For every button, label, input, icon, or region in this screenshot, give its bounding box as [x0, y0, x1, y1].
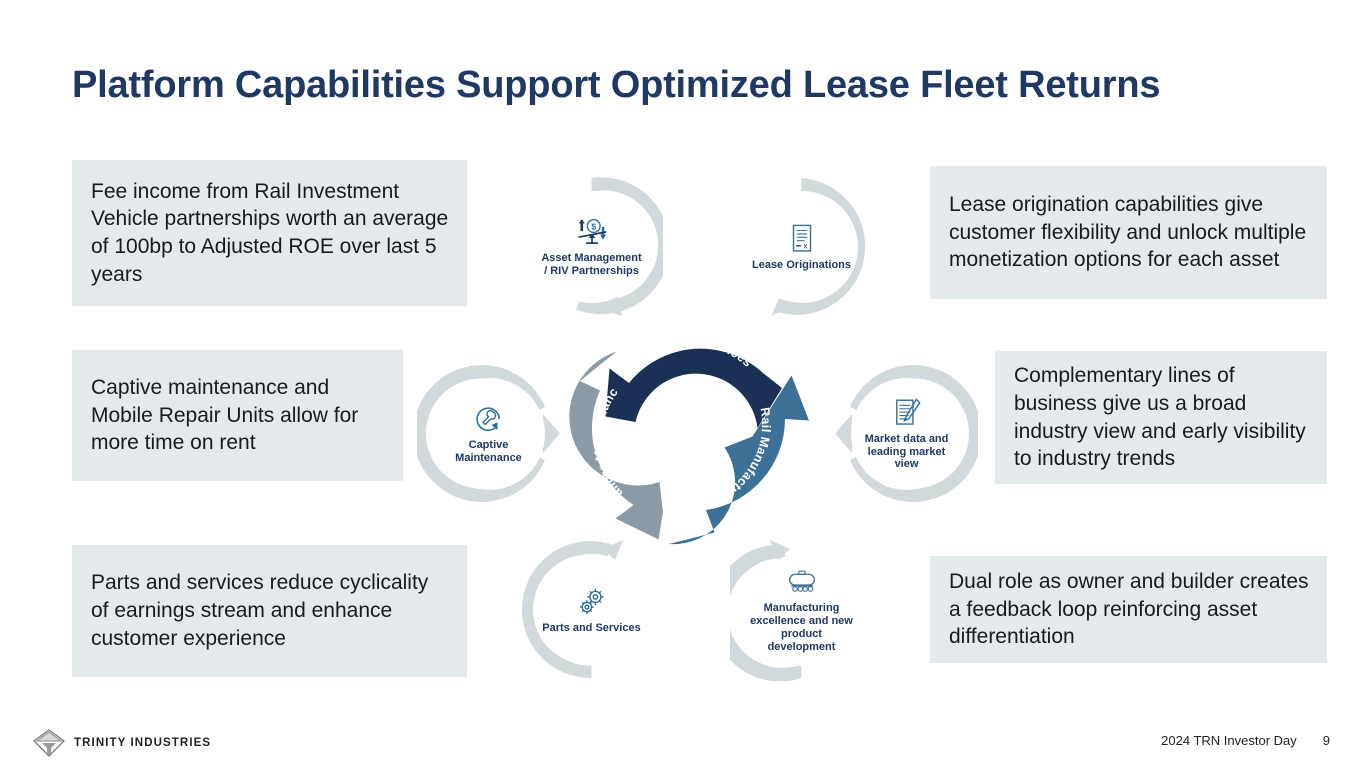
callout-captive-maintenance-text: Captive maintenance and Mobile Repair Un… [91, 374, 385, 457]
node-content: $ Asset Management / RIV Partnerships [536, 191, 648, 303]
callout-fee-income-text: Fee income from Rail Investment Vehicle … [91, 178, 449, 289]
footer-company-name: TRINITY INDUSTRIES [74, 737, 211, 749]
diagram-node-lease-originations[interactable]: x Lease Originations [730, 175, 873, 318]
diagram-node-captive-maintenance[interactable]: Captive Maintenance [417, 362, 560, 505]
node-content: x Lease Originations [746, 191, 858, 303]
node-label: Market data and leading market view [851, 433, 963, 472]
node-label: Asset Management / RIV Partnerships [536, 252, 648, 278]
footer-logo: TRINITY INDUSTRIES [33, 729, 211, 757]
cycle-donut: Leasing & Services Rail Manufacturing Ra… [563, 295, 823, 555]
svg-text:$: $ [591, 221, 596, 231]
page-title: Platform Capabilities Support Optimized … [72, 64, 1342, 108]
callout-parts-services-text: Parts and services reduce cyclicality of… [91, 569, 449, 652]
diagram-node-market-data[interactable]: Market data and leading market view [835, 362, 978, 505]
node-label: Lease Originations [748, 259, 855, 272]
callout-complementary-lines-text: Complementary lines of business give us … [1014, 362, 1309, 473]
callout-dual-role-text: Dual role as owner and builder creates a… [949, 568, 1309, 651]
trinity-diamond-icon [33, 729, 65, 757]
wrench-refresh-icon [472, 402, 506, 436]
gears-icon [575, 585, 609, 619]
callout-lease-origination-text: Lease origination capabilities give cust… [949, 191, 1309, 274]
capability-cycle-diagram: Leasing & Services Rail Manufacturing Ra… [415, 170, 995, 680]
balance-dollar-icon: $ [575, 215, 609, 249]
callout-captive-maintenance: Captive maintenance and Mobile Repair Un… [72, 350, 403, 481]
node-content: Parts and Services [536, 554, 648, 666]
signed-document-icon: x [785, 222, 819, 256]
footer-event-label: 2024 TRN Investor Day [1161, 733, 1297, 748]
node-content: Manufacturing excellence and new product… [746, 554, 858, 666]
node-label: Captive Maintenance [433, 439, 545, 465]
svg-text:x: x [803, 240, 808, 250]
diagram-node-asset-management[interactable]: $ Asset Management / RIV Partnerships [520, 175, 663, 318]
node-content: Captive Maintenance [433, 378, 545, 490]
cycle-segment-leasing-services [606, 349, 783, 428]
diagram-node-manufacturing[interactable]: Manufacturing excellence and new product… [730, 538, 873, 681]
callout-complementary-lines: Complementary lines of business give us … [995, 351, 1327, 484]
node-label: Manufacturing excellence and new product… [746, 602, 858, 654]
tank-railcar-icon [785, 565, 819, 599]
callout-fee-income: Fee income from Rail Investment Vehicle … [72, 160, 467, 306]
footer-meta: 2024 TRN Investor Day 9 [1161, 733, 1330, 748]
cycle-segment-rail-manufacturing [669, 376, 809, 545]
footer-page-number: 9 [1323, 733, 1330, 748]
diagram-node-parts-services[interactable]: Parts and Services [520, 538, 663, 681]
node-label: Parts and Services [538, 622, 644, 635]
document-pencil-icon [890, 396, 924, 430]
node-content: Market data and leading market view [851, 378, 963, 490]
callout-parts-services: Parts and services reduce cyclicality of… [72, 545, 467, 677]
